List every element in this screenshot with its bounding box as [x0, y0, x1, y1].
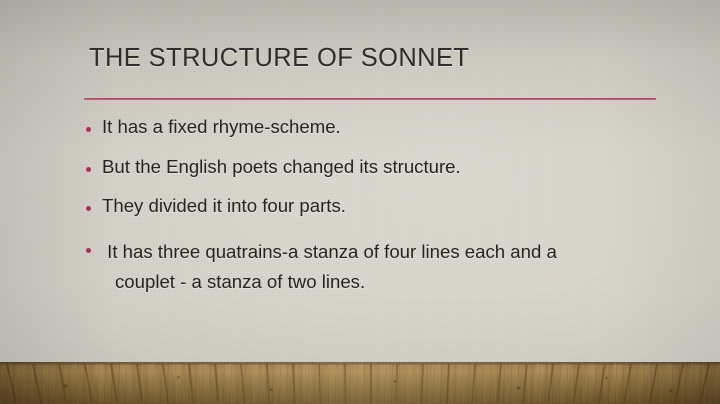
floor-plank-seam	[547, 364, 554, 404]
floor-plank-highlight	[557, 363, 571, 404]
bullet-list: It has a fixed rhyme-scheme. But the Eng…	[84, 118, 684, 297]
bullet-dot-icon	[86, 127, 91, 132]
floor-plank-seam	[446, 364, 450, 404]
list-item: It has three quatrains-a stanza of four …	[84, 237, 684, 297]
floor-knot	[176, 376, 181, 378]
floor-plank-highlight	[608, 363, 623, 404]
floor-plank-highlight	[68, 363, 84, 404]
floor-plank-highlight	[659, 363, 675, 404]
floor-knot	[604, 377, 609, 379]
floor-planks	[0, 362, 720, 404]
floor-knot	[392, 380, 398, 383]
floor-plank-seam	[6, 364, 17, 403]
floor-plank-seam	[496, 364, 502, 404]
floor-plank-seam	[623, 364, 632, 404]
slide-title: THE STRUCTURE OF SONNET	[89, 44, 469, 73]
floor-plank-highlight	[684, 363, 701, 404]
floor-plank-seam	[162, 364, 169, 404]
floor-knot	[268, 388, 274, 391]
floor-plank-seam	[214, 364, 220, 404]
floor-plank-seam	[240, 364, 245, 404]
floor-plank-seam	[649, 364, 658, 404]
floor-plank-highlight	[302, 364, 313, 404]
floor-plank-highlight	[328, 364, 338, 404]
floor-plank-seam	[110, 364, 118, 404]
floor-plank-highlight	[709, 363, 720, 404]
list-item-text: They divided it into four parts.	[102, 197, 684, 216]
floor-plank-highlight	[16, 363, 34, 404]
floor-plank-seam	[522, 364, 528, 404]
floor-plank-seam	[699, 364, 710, 403]
presentation-slide: THE STRUCTURE OF SONNET It has a fixed r…	[0, 0, 720, 404]
floor-plank-seam	[84, 364, 93, 404]
floor-plank-highlight	[224, 364, 237, 404]
floor-plank-seam	[370, 364, 372, 404]
floor-plank-highlight	[583, 363, 597, 404]
floor-plank-highlight	[198, 364, 211, 404]
floor-plank-highlight	[94, 363, 110, 404]
floor-plank-seam	[573, 364, 580, 404]
floor-plank-highlight	[456, 364, 467, 404]
floor-plank-highlight	[430, 364, 441, 404]
floor-plank-highlight	[42, 363, 59, 404]
wooden-floor-image	[0, 362, 720, 404]
floor-plank-highlight	[633, 363, 649, 404]
floor-plank-seam	[420, 364, 424, 404]
floor-knot	[668, 389, 674, 392]
bullet-dot-icon	[86, 167, 91, 172]
bullet-dot-icon	[86, 248, 91, 253]
floor-plank-seam	[395, 364, 398, 404]
floor-plank-seam	[598, 364, 606, 404]
floor-plank-highlight	[405, 364, 415, 404]
title-divider-rule	[84, 98, 656, 100]
list-item-text: But the English poets changed its struct…	[102, 158, 684, 177]
floor-plank-highlight	[380, 364, 389, 404]
floor-plank-highlight	[146, 363, 161, 404]
floor-plank-seam	[188, 364, 194, 404]
list-item: It has a fixed rhyme-scheme.	[84, 118, 684, 137]
list-item-continuation-text: couplet - a stanza of two lines.	[102, 267, 684, 297]
floor-plank-highlight	[276, 364, 287, 404]
floor-knot	[515, 386, 522, 390]
list-item: They divided it into four parts.	[84, 197, 684, 216]
floor-plank-seam	[136, 364, 144, 404]
floor-plank-highlight	[172, 363, 186, 404]
floor-plank-seam	[292, 364, 296, 404]
floor-plank-seam	[32, 364, 42, 404]
floor-plank-highlight	[120, 363, 135, 404]
floor-plank-seam	[266, 364, 270, 404]
floor-plank-seam	[674, 364, 684, 404]
list-item-text: It has three quatrains-a stanza of four …	[102, 237, 684, 267]
bullet-dot-icon	[86, 206, 91, 211]
floor-plank-seam	[471, 364, 476, 404]
floor-plank-highlight	[506, 364, 518, 404]
floor-plank-highlight	[481, 364, 493, 404]
list-item-text: It has a fixed rhyme-scheme.	[102, 118, 684, 137]
floor-plank-seam	[344, 364, 346, 404]
floor-knot	[62, 384, 69, 388]
floor-plank-highlight	[354, 364, 363, 404]
floor-plank-highlight	[532, 364, 545, 404]
floor-plank-highlight	[250, 364, 262, 404]
floor-plank-seam	[318, 364, 321, 404]
list-item: But the English poets changed its struct…	[84, 158, 684, 177]
